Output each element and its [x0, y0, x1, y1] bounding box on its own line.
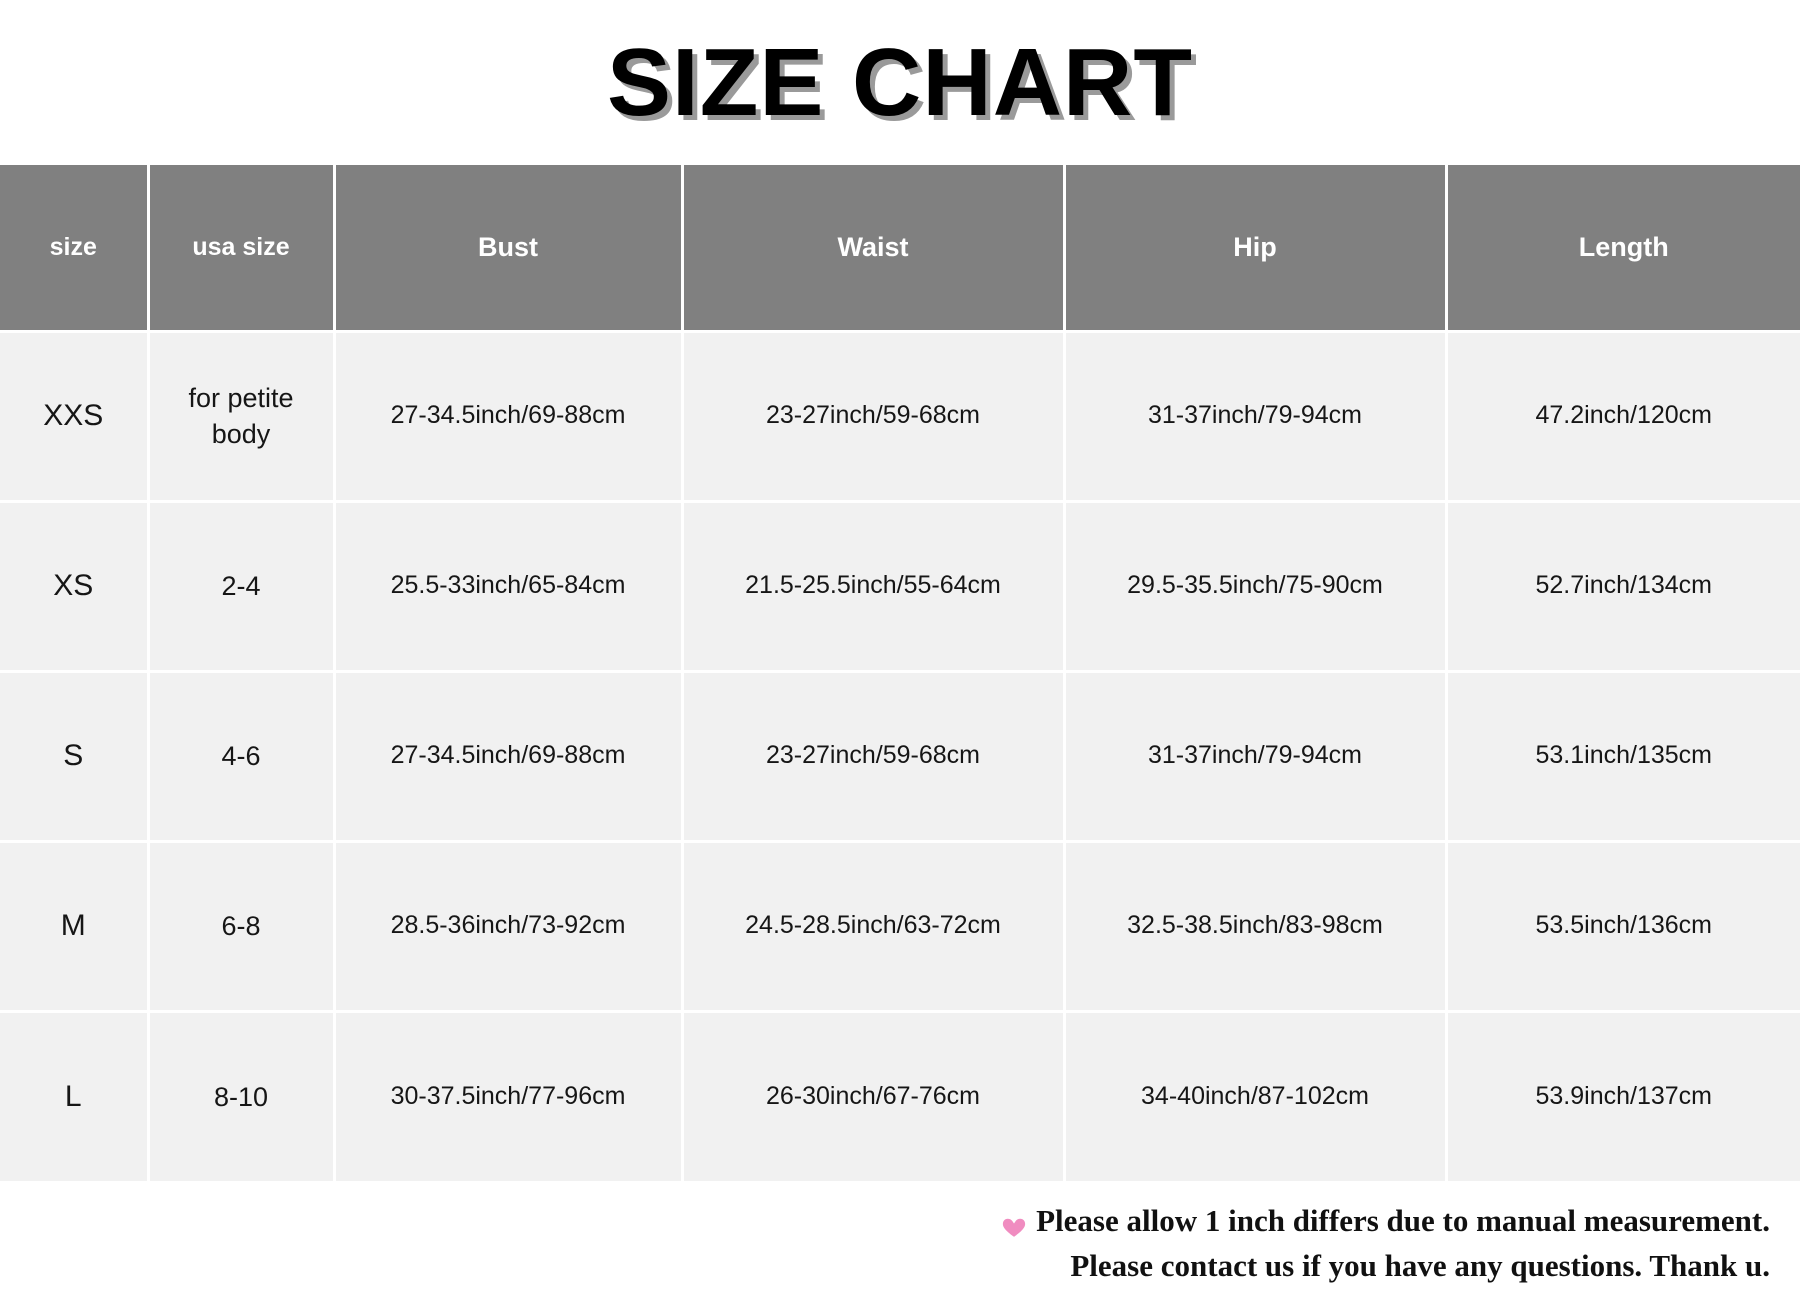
cell-size: S [0, 671, 148, 841]
cell-hip: 29.5-35.5inch/75-90cm [1064, 501, 1446, 671]
table-row: XXS for petite body 27-34.5inch/69-88cm … [0, 331, 1800, 501]
size-chart-page: SIZE CHART size usa size Bust Waist Hip … [0, 0, 1800, 1309]
note-text-1: Please allow 1 inch differs due to manua… [1036, 1199, 1770, 1244]
column-header-waist: Waist [682, 165, 1064, 331]
column-header-hip: Hip [1064, 165, 1446, 331]
title-area: SIZE CHART [0, 0, 1800, 165]
cell-length: 53.1inch/135cm [1446, 671, 1800, 841]
note-text-2: Please contact us if you have any questi… [1070, 1244, 1770, 1289]
cell-usa-size: 4-6 [148, 671, 334, 841]
table-row: XS 2-4 25.5-33inch/65-84cm 21.5-25.5inch… [0, 501, 1800, 671]
column-header-length: Length [1446, 165, 1800, 331]
cell-length: 53.9inch/137cm [1446, 1011, 1800, 1181]
cell-bust: 25.5-33inch/65-84cm [334, 501, 682, 671]
cell-usa-size: 2-4 [148, 501, 334, 671]
cell-hip: 34-40inch/87-102cm [1064, 1011, 1446, 1181]
heart-icon [1001, 1208, 1027, 1234]
cell-length: 52.7inch/134cm [1446, 501, 1800, 671]
cell-bust: 27-34.5inch/69-88cm [334, 671, 682, 841]
cell-waist: 24.5-28.5inch/63-72cm [682, 841, 1064, 1011]
table-row: M 6-8 28.5-36inch/73-92cm 24.5-28.5inch/… [0, 841, 1800, 1011]
cell-waist: 26-30inch/67-76cm [682, 1011, 1064, 1181]
cell-length: 53.5inch/136cm [1446, 841, 1800, 1011]
column-header-bust: Bust [334, 165, 682, 331]
table-body: XXS for petite body 27-34.5inch/69-88cm … [0, 331, 1800, 1181]
note-line-1: Please allow 1 inch differs due to manua… [1001, 1199, 1770, 1244]
cell-waist: 23-27inch/59-68cm [682, 331, 1064, 501]
cell-usa-size: 6-8 [148, 841, 334, 1011]
table-header-row: size usa size Bust Waist Hip Length [0, 165, 1800, 331]
cell-hip: 31-37inch/79-94cm [1064, 671, 1446, 841]
note-line-2: Please contact us if you have any questi… [1070, 1244, 1770, 1289]
cell-waist: 23-27inch/59-68cm [682, 671, 1064, 841]
cell-usa-size: for petite body [148, 331, 334, 501]
footer-notes: Please allow 1 inch differs due to manua… [0, 1181, 1800, 1289]
cell-bust: 30-37.5inch/77-96cm [334, 1011, 682, 1181]
cell-bust: 27-34.5inch/69-88cm [334, 331, 682, 501]
page-title: SIZE CHART [607, 35, 1193, 131]
cell-hip: 32.5-38.5inch/83-98cm [1064, 841, 1446, 1011]
cell-hip: 31-37inch/79-94cm [1064, 331, 1446, 501]
cell-waist: 21.5-25.5inch/55-64cm [682, 501, 1064, 671]
column-header-usa-size: usa size [148, 165, 334, 331]
column-header-size: size [0, 165, 148, 331]
cell-size: XS [0, 501, 148, 671]
cell-size: L [0, 1011, 148, 1181]
table-row: S 4-6 27-34.5inch/69-88cm 23-27inch/59-6… [0, 671, 1800, 841]
table-header: size usa size Bust Waist Hip Length [0, 165, 1800, 331]
cell-length: 47.2inch/120cm [1446, 331, 1800, 501]
cell-size: XXS [0, 331, 148, 501]
cell-bust: 28.5-36inch/73-92cm [334, 841, 682, 1011]
size-chart-table: size usa size Bust Waist Hip Length XXS … [0, 165, 1800, 1181]
cell-size: M [0, 841, 148, 1011]
table-row: L 8-10 30-37.5inch/77-96cm 26-30inch/67-… [0, 1011, 1800, 1181]
cell-usa-size: 8-10 [148, 1011, 334, 1181]
